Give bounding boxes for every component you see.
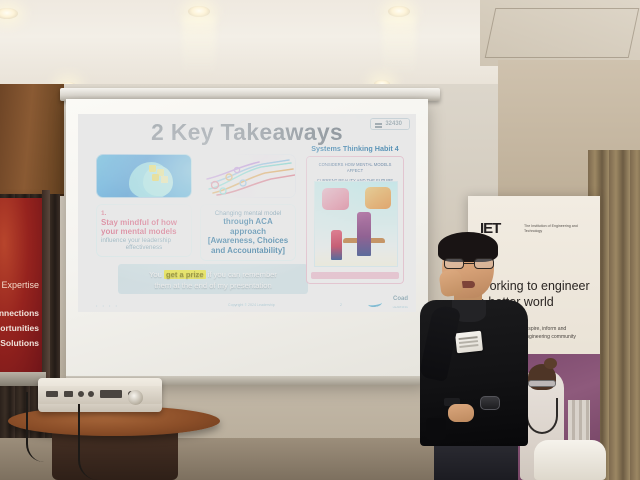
projector-port	[46, 391, 58, 397]
takeaway-1-bold-line-1: Stay mindful of how	[101, 218, 187, 227]
takeaway-1-number: 1.	[101, 210, 187, 218]
light-cone	[382, 16, 416, 76]
neural-lines-icon	[201, 155, 296, 198]
name-badge	[455, 331, 483, 354]
slide-footer: • • • • Copyright © 2024 Leadership 2 Co…	[78, 296, 416, 310]
red-banner-line-4: Solutions	[0, 338, 39, 348]
slide-copyright: Copyright © 2024 Leadership	[228, 303, 275, 307]
prize-pre: You	[149, 270, 162, 279]
ceiling-access-panel	[480, 0, 640, 66]
habit-illustration	[314, 181, 398, 267]
logo-swoosh-icon	[368, 299, 383, 308]
white-chair	[534, 440, 606, 480]
projected-slide: 2 Key Takeaways 32430	[78, 114, 416, 312]
prize-banner: You get a prize if you can remember them…	[118, 264, 308, 294]
habit-title: Systems Thinking Habit 4	[306, 144, 404, 153]
projector-port	[64, 391, 73, 397]
takeaway-2-line-3: [Awareness, Choices	[205, 236, 291, 245]
child-figure-icon	[331, 230, 342, 260]
slide-progress-dots: • • • •	[96, 303, 119, 308]
red-banner-line-2: Connections	[0, 308, 39, 318]
prize-line-2: them at the end of my presentation	[118, 280, 308, 291]
takeaway-column-1: 1. Stay mindful of how your mental model…	[96, 204, 192, 257]
presenter	[404, 236, 534, 480]
iet-logo-subtitle: The Institution of Engineering and Techn…	[524, 224, 594, 234]
slide-page-number: 2	[340, 303, 342, 307]
takeaway-2-line-4: and Accountability]	[205, 246, 291, 255]
presenter-pocket	[426, 418, 446, 440]
puzzle-piece-icon	[161, 176, 168, 183]
takeaway-column-2: Changing mental model through ACA approa…	[200, 204, 296, 261]
takeaway-1-bold-line-2: your mental models	[101, 227, 187, 236]
red-banner-line-1: Expertise	[1, 280, 39, 290]
presenter-legs	[434, 440, 518, 480]
adult-figure-icon	[357, 212, 371, 256]
wrist-watch-icon	[480, 396, 500, 410]
systems-thinking-habit-panel: Systems Thinking Habit 4 CONSIDERS HOW M…	[306, 144, 404, 294]
projector-lens-icon	[128, 390, 143, 405]
habit-card: CONSIDERS HOW MENTAL MODELS AFFECT CURRE…	[306, 156, 404, 284]
prize-highlight: get a prize	[164, 270, 206, 279]
projector-port	[78, 391, 84, 397]
head-puzzle-image	[96, 154, 192, 198]
takeaway-2-line-2: through ACA approach	[205, 217, 291, 236]
glasses-icon	[444, 258, 494, 269]
neural-pathways-image	[200, 154, 296, 198]
takeaway-1-sub-line-2: effectiveness	[101, 244, 187, 251]
takeaway-1-sub-line-1: influence your leadership	[101, 237, 187, 244]
projector-port	[88, 391, 94, 397]
puzzle-piece-icon	[149, 165, 156, 172]
presenter-hand-raised	[438, 269, 463, 298]
thought-bubble-right-icon	[365, 187, 391, 209]
projector-vga-port	[100, 390, 122, 398]
slide-title: 2 Key Takeaways	[78, 119, 416, 146]
slide-badge: 32430	[370, 118, 410, 130]
habit-footer-bar	[311, 272, 399, 279]
presenter-hand-lower	[448, 404, 474, 422]
prize-post: if you can remember	[208, 270, 277, 279]
wood-panel-left	[0, 84, 64, 196]
red-banner-edge	[42, 190, 50, 386]
thought-bubble-left-icon	[322, 188, 349, 210]
red-banner-line-3: Opportunities	[0, 323, 39, 333]
power-cable	[26, 392, 44, 462]
red-banner: Expertise Connections Opportunities Solu…	[0, 198, 42, 380]
person-hair-bun	[544, 358, 557, 369]
presentation-room-photo: 2 Key Takeaways 32430	[0, 0, 640, 480]
puzzle-piece-icon	[152, 174, 159, 181]
prize-line-1: You get a prize if you can remember	[118, 269, 308, 280]
light-cone	[182, 16, 216, 76]
video-cable	[78, 404, 98, 480]
projector-front-panel	[38, 386, 162, 404]
takeaway-2-line-1: Changing mental model	[205, 210, 291, 217]
